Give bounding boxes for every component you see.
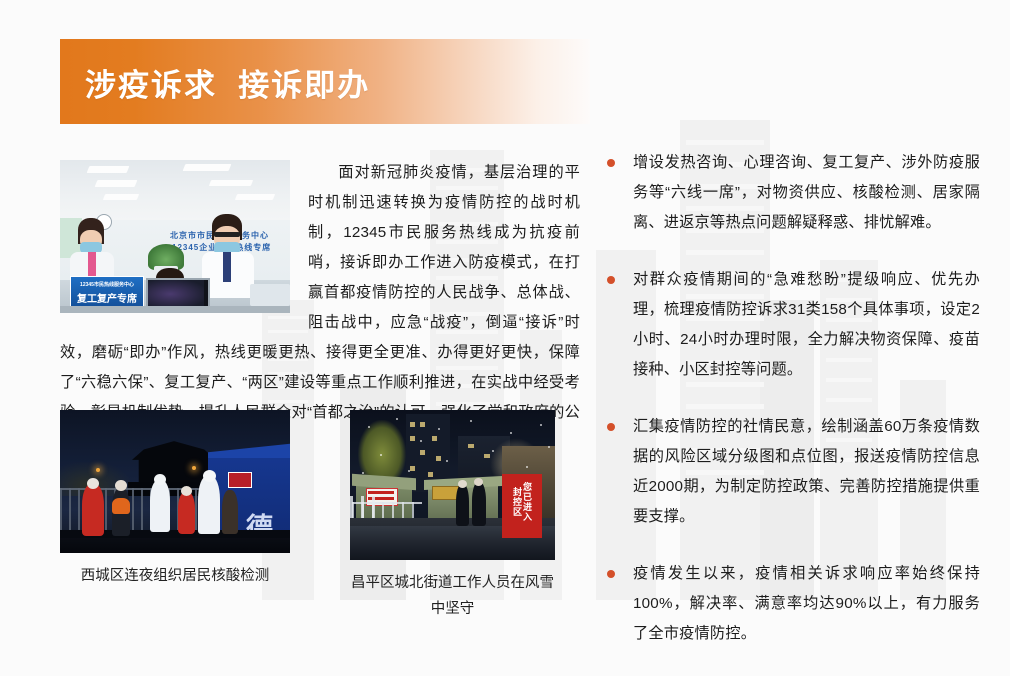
bullet-item-1: 增设发热咨询、心理咨询、复工复产、涉外防疫服务等“六线一席”，对物资供应、核酸检…: [605, 148, 980, 238]
photo-call-center: 北京市市民热线服务中心 12345企业服务热线专席: [60, 160, 290, 313]
desk-badge-line-1: 12345市民热线服务中心: [71, 277, 143, 291]
lockdown-sign: 您已进入封控区: [502, 474, 542, 538]
photo-desk-badge: 12345市民热线服务中心 复工复产专席: [70, 276, 144, 308]
caption-snow-checkpoint: 昌平区城北街道工作人员在风雪中坚守: [350, 570, 555, 622]
bullet-text-2: 对群众疫情期间的“急难愁盼”提级响应、优先办理，梳理疫情防控诉求31类158个具…: [633, 271, 980, 378]
bullet-item-4: 疫情发生以来，疫情相关诉求响应率始终保持100%，解决率、满意率均达90%以上，…: [605, 559, 980, 649]
bullet-text-3: 汇集疫情防控的社情民意，绘制涵盖60万条疫情数据的风险区域分级图和点位图，报送疫…: [633, 418, 980, 525]
right-column: 增设发热咨询、心理咨询、复工复产、涉外防疫服务等“六线一席”，对物资供应、核酸检…: [605, 148, 980, 676]
bullet-dot-icon: [607, 570, 615, 578]
bullet-item-3: 汇集疫情防控的社情民意，绘制涵盖60万条疫情数据的风险区域分级图和点位图，报送疫…: [605, 412, 980, 532]
page-title: 涉疫诉求 接诉即办: [85, 60, 370, 105]
bullet-dot-icon: [607, 423, 615, 431]
bullet-text-1: 增设发热咨询、心理咨询、复工复产、涉外防疫服务等“六线一席”，对物资供应、核酸检…: [633, 154, 980, 231]
left-column: 北京市市民热线服务中心 12345企业服务热线专席: [60, 140, 580, 458]
photo-nucleic-testing: 德: [60, 410, 290, 553]
photo-snow-checkpoint: 您已进入封控区: [350, 410, 555, 560]
bullet-text-4: 疫情发生以来，疫情相关诉求响应率始终保持100%，解决率、满意率均达90%以上，…: [633, 565, 980, 642]
photo-block-snow: 您已进入封控区 昌平区城北街道工作人员在风雪中坚守: [350, 410, 555, 622]
desk-badge-line-2: 复工复产专席: [71, 291, 143, 305]
bullet-dot-icon: [607, 276, 615, 284]
bullet-item-2: 对群众疫情期间的“急难愁盼”提级响应、优先办理，梳理疫情防控诉求31类158个具…: [605, 265, 980, 385]
lockdown-sign-text: 您已进入封控区: [512, 478, 532, 526]
caption-nucleic-testing: 西城区连夜组织居民核酸检测: [60, 563, 290, 589]
photo-block-nucleic: 德 西城区连夜: [60, 410, 290, 589]
bullet-dot-icon: [607, 159, 615, 167]
